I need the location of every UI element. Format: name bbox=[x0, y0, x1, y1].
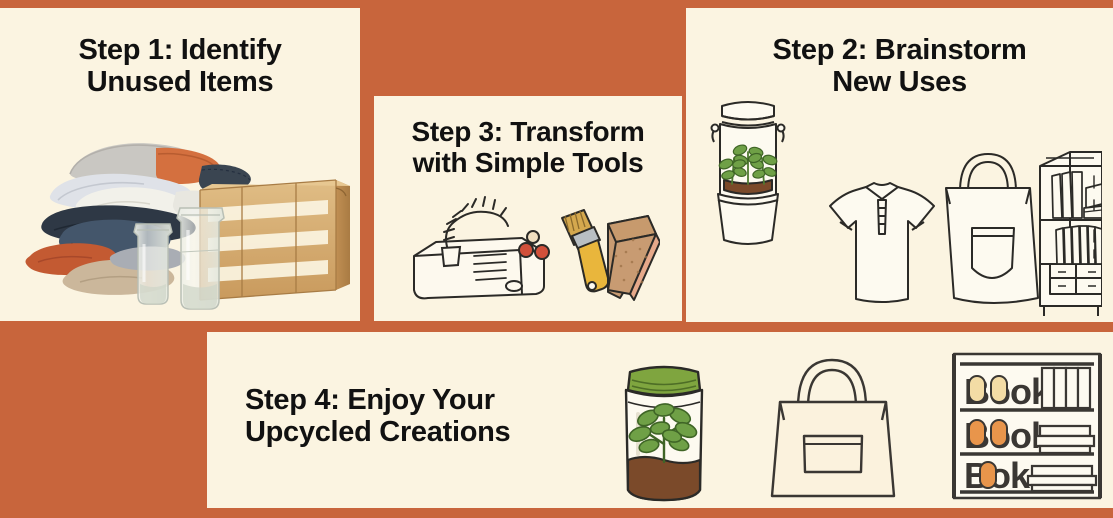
step-1-heading: Step 1: Identify Unused Items bbox=[0, 34, 360, 99]
sanding-block-art bbox=[608, 216, 660, 300]
step-3-illustration bbox=[402, 194, 660, 312]
tote-bag-colored-art bbox=[772, 360, 894, 496]
panel-step-2: Step 2: Brainstorm New Uses bbox=[686, 8, 1113, 322]
step-4-heading: Step 4: Enjoy Your Upcycled Creations bbox=[245, 384, 510, 449]
panel-step-3: Step 3: Transform with Simple Tools bbox=[374, 96, 682, 321]
step-4-illustration: Book Book bbox=[602, 340, 1102, 505]
panel-step-4: Step 4: Enjoy Your Upcycled Creations bbox=[207, 332, 1113, 508]
bookshelf-shelf-3-label: Bok bbox=[964, 455, 1031, 496]
step-2-illustration bbox=[702, 88, 1102, 320]
bookshelf-shelf-1-group: Book bbox=[964, 368, 1090, 412]
wooden-crate-art bbox=[200, 180, 350, 300]
panel-step-1: Step 1: Identify Unused Items bbox=[0, 8, 360, 321]
glue-gun-switch bbox=[506, 281, 522, 291]
tote-bag-art bbox=[946, 154, 1038, 303]
paintbrush-art bbox=[562, 210, 608, 291]
bookshelf-mid-books bbox=[1056, 226, 1102, 264]
step-3-heading: Step 3: Transform with Simple Tools bbox=[374, 116, 682, 179]
glue-gun-nozzle bbox=[442, 247, 460, 266]
step-1-illustration bbox=[6, 104, 354, 319]
polo-shirt-art bbox=[830, 183, 934, 302]
infographic-canvas: Step 1: Identify Unused Items bbox=[0, 0, 1113, 518]
